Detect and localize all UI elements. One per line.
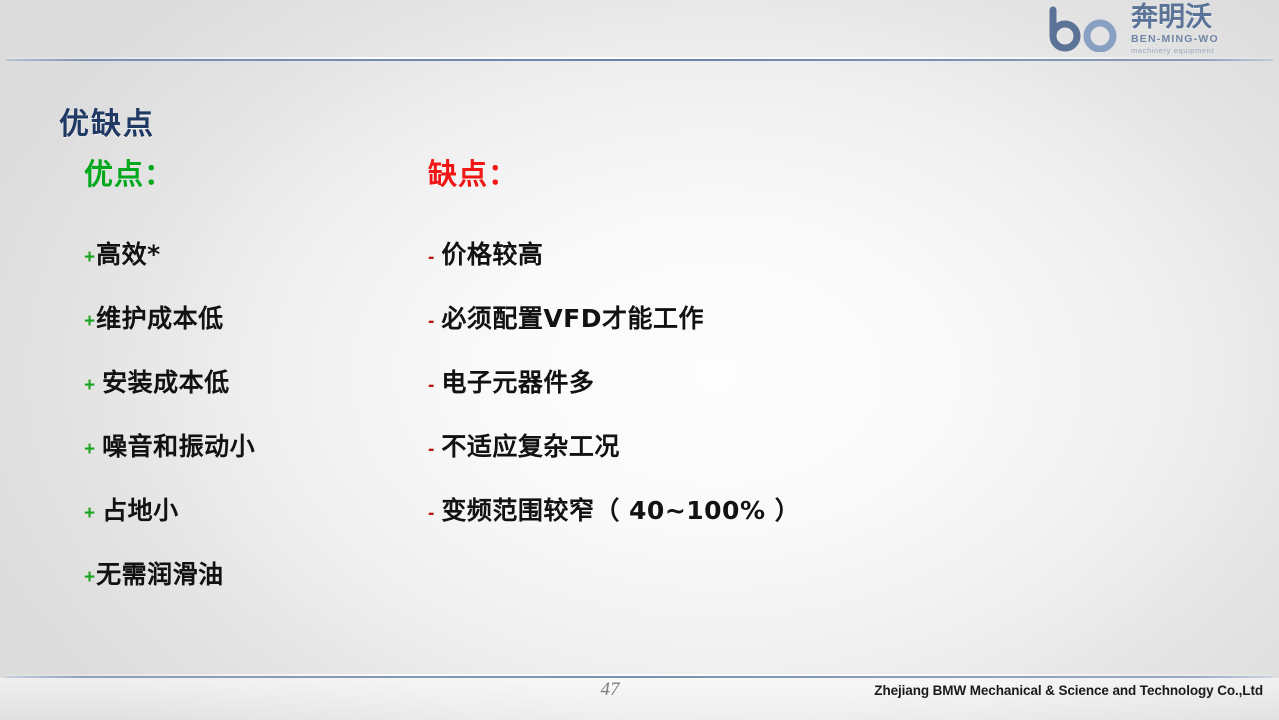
cons-list: - 价格较高 - 必须配置VFD才能工作 - 电子元器件多 - 不适应复杂工况 … <box>428 235 928 555</box>
minus-marker-icon: - <box>428 504 434 523</box>
pros-heading: 优点： <box>84 160 414 189</box>
plus-marker-icon: + <box>84 504 95 523</box>
list-item: - 电子元器件多 <box>428 363 928 427</box>
logo-wordmark: 奔明沃 BEN-MING-WO machinery equipment <box>1131 4 1219 54</box>
list-item-label: 占地小 <box>102 491 179 527</box>
slide-canvas: 奔明沃 BEN-MING-WO machinery equipment 优缺点 … <box>0 0 1279 720</box>
minus-marker-icon: - <box>428 248 434 267</box>
list-item: - 变频范围较窄（ 40~100% ） <box>428 491 928 555</box>
list-item: - 价格较高 <box>428 235 928 299</box>
page-title: 优缺点 <box>59 99 155 143</box>
list-item-label: 变频范围较窄（ 40~100% ） <box>441 491 800 527</box>
page-number: 47 <box>560 679 660 701</box>
list-item-label: 安装成本低 <box>102 363 230 399</box>
content-columns: 优点： + 高效* + 维护成本低 + 安装成本低 + 噪音和振动小 <box>0 160 1279 630</box>
list-item-label: 不适应复杂工况 <box>441 427 620 463</box>
minus-marker-icon: - <box>428 312 434 331</box>
list-item-label: 噪音和振动小 <box>102 427 255 463</box>
list-item: - 不适应复杂工况 <box>428 427 928 491</box>
cons-column: 缺点： - 价格较高 - 必须配置VFD才能工作 - 电子元器件多 - 不适应复… <box>428 160 928 555</box>
footer-divider <box>6 676 1273 678</box>
list-item: + 占地小 <box>84 491 414 555</box>
list-item: + 高效* <box>84 235 414 299</box>
plus-marker-icon: + <box>84 568 95 587</box>
list-item: + 噪音和振动小 <box>84 427 414 491</box>
list-item: + 无需润滑油 <box>84 555 414 619</box>
list-item-label: 高效* <box>96 235 161 271</box>
plus-marker-icon: + <box>84 248 95 267</box>
minus-marker-icon: - <box>428 440 434 459</box>
company-logo: 奔明沃 BEN-MING-WO machinery equipment <box>1043 2 1271 56</box>
list-item-label: 必须配置VFD才能工作 <box>441 299 704 335</box>
list-item-label: 无需润滑油 <box>96 555 224 591</box>
cons-heading: 缺点： <box>428 160 928 189</box>
plus-marker-icon: + <box>84 440 95 459</box>
list-item: + 维护成本低 <box>84 299 414 363</box>
slide-header: 奔明沃 BEN-MING-WO machinery equipment <box>0 0 1279 60</box>
list-item-label: 维护成本低 <box>96 299 224 335</box>
list-item-label: 电子元器件多 <box>441 363 594 399</box>
list-item: + 安装成本低 <box>84 363 414 427</box>
list-item: - 必须配置VFD才能工作 <box>428 299 928 363</box>
list-item-label: 价格较高 <box>441 235 543 271</box>
plus-marker-icon: + <box>84 312 95 331</box>
pros-column: 优点： + 高效* + 维护成本低 + 安装成本低 + 噪音和振动小 <box>84 160 414 619</box>
minus-marker-icon: - <box>428 376 434 395</box>
logo-chinese-name: 奔明沃 <box>1131 4 1219 31</box>
header-divider <box>6 59 1273 61</box>
footer-company-name: Zhejiang BMW Mechanical & Science and Te… <box>874 683 1263 698</box>
pros-list: + 高效* + 维护成本低 + 安装成本低 + 噪音和振动小 + 占地小 <box>84 235 414 619</box>
plus-marker-icon: + <box>84 376 95 395</box>
bmw-bo-logo-icon <box>1043 6 1129 52</box>
logo-latin-name: BEN-MING-WO <box>1131 34 1219 45</box>
logo-tagline: machinery equipment <box>1131 47 1219 55</box>
